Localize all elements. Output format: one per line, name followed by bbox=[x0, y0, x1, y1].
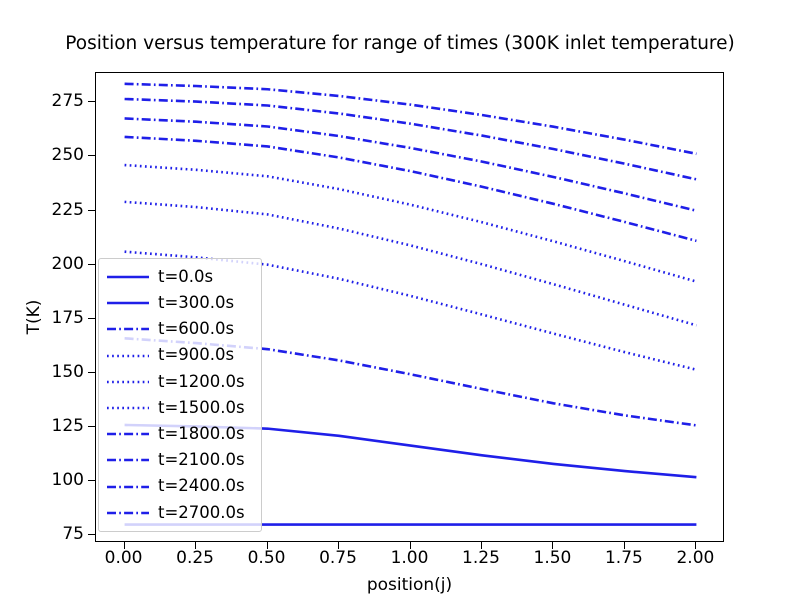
y-tick-label: 100 bbox=[52, 470, 84, 490]
y-tick-mark bbox=[88, 155, 95, 156]
legend-line-swatch bbox=[107, 375, 149, 389]
x-tick-label: 1.25 bbox=[462, 548, 500, 568]
x-tick-mark bbox=[124, 542, 125, 549]
legend-label: t=1500.0s bbox=[158, 400, 245, 417]
x-tick-label: 2.00 bbox=[676, 548, 714, 568]
y-tick-label: 150 bbox=[52, 362, 84, 382]
x-tick-mark bbox=[481, 542, 482, 549]
y-tick-mark bbox=[88, 101, 95, 102]
y-tick-mark bbox=[88, 534, 95, 535]
x-tick-mark bbox=[695, 542, 696, 549]
legend-item[interactable]: t=900.0s bbox=[105, 343, 255, 369]
x-tick-label: 0.75 bbox=[319, 548, 357, 568]
legend-label: t=2100.0s bbox=[158, 452, 245, 469]
y-tick-label: 200 bbox=[52, 254, 84, 274]
legend[interactable]: t=0.0st=300.0st=600.0st=900.0st=1200.0st… bbox=[98, 258, 262, 532]
x-tick-label: 0.00 bbox=[105, 548, 143, 568]
series-line bbox=[125, 118, 697, 210]
y-tick-label: 175 bbox=[52, 308, 84, 328]
legend-line-swatch bbox=[107, 427, 149, 441]
y-tick-label: 75 bbox=[62, 524, 84, 544]
legend-line-swatch bbox=[107, 349, 149, 363]
x-tick-label: 1.50 bbox=[534, 548, 572, 568]
legend-line-swatch bbox=[107, 401, 149, 415]
legend-label: t=0.0s bbox=[158, 269, 213, 286]
legend-label: t=2700.0s bbox=[158, 505, 245, 522]
series-line bbox=[125, 99, 697, 179]
legend-item[interactable]: t=1500.0s bbox=[105, 395, 255, 421]
series-line bbox=[125, 84, 697, 154]
x-tick-mark bbox=[552, 542, 553, 549]
legend-label: t=1200.0s bbox=[158, 374, 245, 391]
y-tick-label: 250 bbox=[52, 145, 84, 165]
legend-item[interactable]: t=600.0s bbox=[105, 316, 255, 342]
y-tick-mark bbox=[88, 480, 95, 481]
legend-label: t=300.0s bbox=[158, 295, 234, 312]
x-tick-mark bbox=[267, 542, 268, 549]
x-tick-mark bbox=[624, 542, 625, 549]
legend-line-swatch bbox=[107, 453, 149, 467]
legend-line-swatch bbox=[107, 480, 149, 494]
legend-item[interactable]: t=1800.0s bbox=[105, 421, 255, 447]
x-tick-label: 0.25 bbox=[176, 548, 214, 568]
x-tick-mark bbox=[338, 542, 339, 549]
legend-line-swatch bbox=[107, 296, 149, 310]
legend-item[interactable]: t=2100.0s bbox=[105, 447, 255, 473]
y-tick-mark bbox=[88, 372, 95, 373]
x-tick-label: 0.50 bbox=[248, 548, 286, 568]
figure: Position versus temperature for range of… bbox=[0, 0, 800, 606]
legend-label: t=900.0s bbox=[158, 347, 234, 364]
legend-line-swatch bbox=[107, 506, 149, 520]
x-axis-label: position(j) bbox=[95, 575, 724, 595]
x-tick-mark bbox=[410, 542, 411, 549]
y-tick-label: 225 bbox=[52, 200, 84, 220]
y-tick-mark bbox=[88, 318, 95, 319]
legend-item[interactable]: t=2700.0s bbox=[105, 500, 255, 526]
legend-label: t=1800.0s bbox=[158, 426, 245, 443]
legend-label: t=600.0s bbox=[158, 321, 234, 338]
y-tick-mark bbox=[88, 264, 95, 265]
legend-item[interactable]: t=1200.0s bbox=[105, 369, 255, 395]
legend-item[interactable]: t=2400.0s bbox=[105, 474, 255, 500]
y-tick-label: 125 bbox=[52, 416, 84, 436]
legend-item[interactable]: t=300.0s bbox=[105, 290, 255, 316]
x-tick-mark bbox=[195, 542, 196, 549]
y-tick-label: 275 bbox=[52, 91, 84, 111]
y-tick-mark bbox=[88, 426, 95, 427]
legend-line-swatch bbox=[107, 322, 149, 336]
y-axis-label: T(K) bbox=[24, 257, 44, 377]
y-tick-mark bbox=[88, 210, 95, 211]
legend-item[interactable]: t=0.0s bbox=[105, 264, 255, 290]
chart-title: Position versus temperature for range of… bbox=[0, 33, 800, 54]
x-tick-label: 1.75 bbox=[605, 548, 643, 568]
x-tick-label: 1.00 bbox=[391, 548, 429, 568]
legend-line-swatch bbox=[107, 270, 149, 284]
legend-label: t=2400.0s bbox=[158, 478, 245, 495]
